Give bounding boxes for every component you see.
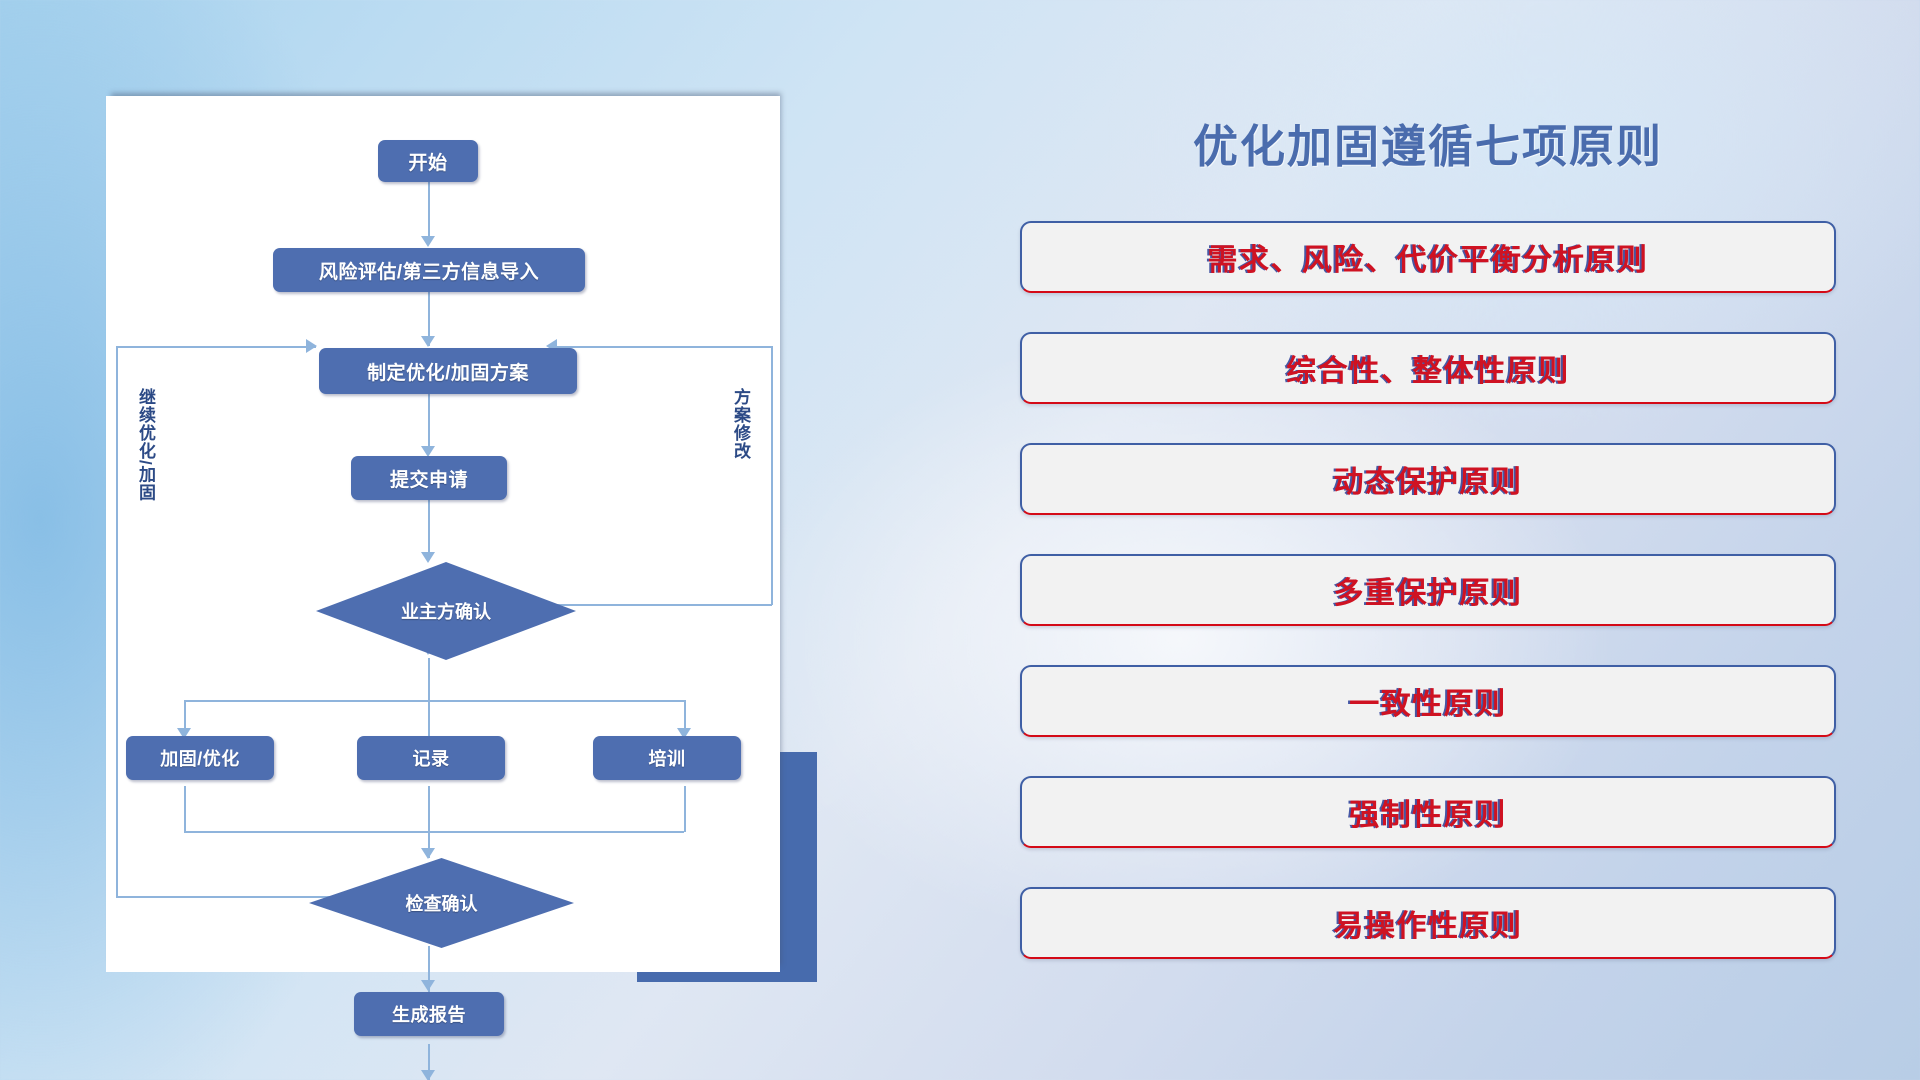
flow-node-check-confirm[interactable]: 检查确认 bbox=[309, 858, 574, 948]
flow-node-report-label: 生成报告 bbox=[392, 1001, 466, 1027]
flowchart-card: 开始 风险评估/第三方信息导入 制定优化/加固方案 提交申请 业主方确认 加固/… bbox=[106, 96, 780, 972]
flow-node-assess-label: 风险评估/第三方信息导入 bbox=[319, 257, 539, 284]
principle-card-6-label: 强制性原则 bbox=[1349, 790, 1507, 834]
flow-node-training[interactable]: 培训 bbox=[593, 736, 741, 780]
principle-card-2[interactable]: 综合性、整体性原则 bbox=[1020, 332, 1836, 404]
connector-split-bar bbox=[184, 700, 684, 702]
principles-list: 需求、风险、代价平衡分析原则 综合性、整体性原则 动态保护原则 多重保护原则 一… bbox=[1020, 221, 1836, 959]
connector-training-down bbox=[684, 786, 686, 832]
flow-node-owner-confirm-label: 业主方确认 bbox=[401, 598, 491, 624]
edge-label-continue-optimize: 继续优化/加固 bbox=[136, 388, 154, 558]
flow-node-reinforce-label: 加固/优化 bbox=[160, 745, 240, 771]
arrowhead-plan bbox=[421, 336, 435, 347]
principle-card-5[interactable]: 一致性原则 bbox=[1020, 665, 1836, 737]
flow-node-reinforce[interactable]: 加固/优化 bbox=[126, 736, 274, 780]
principles-title: 优化加固遵循七项原则 bbox=[1020, 110, 1836, 175]
flow-node-record-label: 记录 bbox=[413, 745, 450, 771]
principle-card-4-label: 多重保护原则 bbox=[1334, 568, 1523, 612]
connector-start-to-assess bbox=[428, 180, 430, 244]
edge-label-plan-revision: 方案修改 bbox=[731, 388, 749, 508]
connector-reinforce-down bbox=[184, 786, 186, 832]
principle-card-4[interactable]: 多重保护原则 bbox=[1020, 554, 1836, 626]
flow-node-record[interactable]: 记录 bbox=[357, 736, 505, 780]
flow-node-start[interactable]: 开始 bbox=[378, 140, 478, 182]
loop-right-vertical bbox=[771, 346, 773, 605]
flow-node-training-label: 培训 bbox=[649, 745, 686, 771]
flow-node-assess[interactable]: 风险评估/第三方信息导入 bbox=[273, 248, 585, 292]
principle-card-1[interactable]: 需求、风险、代价平衡分析原则 bbox=[1020, 221, 1836, 293]
flow-node-owner-confirm[interactable]: 业主方确认 bbox=[316, 562, 576, 660]
connector-plan-to-submit bbox=[428, 392, 430, 454]
flowchart-canvas: 开始 风险评估/第三方信息导入 制定优化/加固方案 提交申请 业主方确认 加固/… bbox=[106, 96, 780, 972]
principle-card-3[interactable]: 动态保护原则 bbox=[1020, 443, 1836, 515]
arrowhead-report bbox=[421, 980, 435, 991]
connector-merge-bar bbox=[184, 831, 684, 833]
arrowhead-end bbox=[421, 1070, 435, 1080]
flow-node-plan-label: 制定优化/加固方案 bbox=[367, 358, 529, 385]
principle-card-6[interactable]: 强制性原则 bbox=[1020, 776, 1836, 848]
arrowhead-loop-left-into-plan bbox=[306, 339, 317, 353]
loop-right-top bbox=[556, 346, 772, 348]
principle-card-7[interactable]: 易操作性原则 bbox=[1020, 887, 1836, 959]
loop-left-bottom bbox=[116, 896, 338, 898]
loop-left-top bbox=[116, 346, 316, 348]
principles-panel: 优化加固遵循七项原则 需求、风险、代价平衡分析原则 综合性、整体性原则 动态保护… bbox=[1020, 96, 1836, 1016]
principle-card-2-label: 综合性、整体性原则 bbox=[1286, 346, 1570, 390]
principle-card-7-label: 易操作性原则 bbox=[1334, 901, 1523, 945]
principle-card-3-label: 动态保护原则 bbox=[1334, 457, 1523, 501]
flow-node-check-confirm-label: 检查确认 bbox=[406, 890, 478, 916]
flow-node-report[interactable]: 生成报告 bbox=[354, 992, 504, 1036]
connector-submit-to-owner bbox=[428, 498, 430, 560]
flow-node-submit-label: 提交申请 bbox=[390, 465, 468, 492]
principle-card-1-label: 需求、风险、代价平衡分析原则 bbox=[1208, 235, 1649, 279]
flow-node-plan[interactable]: 制定优化/加固方案 bbox=[319, 348, 577, 394]
loop-left-vertical bbox=[116, 346, 118, 898]
arrowhead-assess bbox=[421, 236, 435, 247]
flow-node-submit[interactable]: 提交申请 bbox=[351, 456, 507, 500]
flow-node-start-label: 开始 bbox=[408, 148, 447, 175]
principle-card-5-label: 一致性原则 bbox=[1349, 679, 1507, 723]
